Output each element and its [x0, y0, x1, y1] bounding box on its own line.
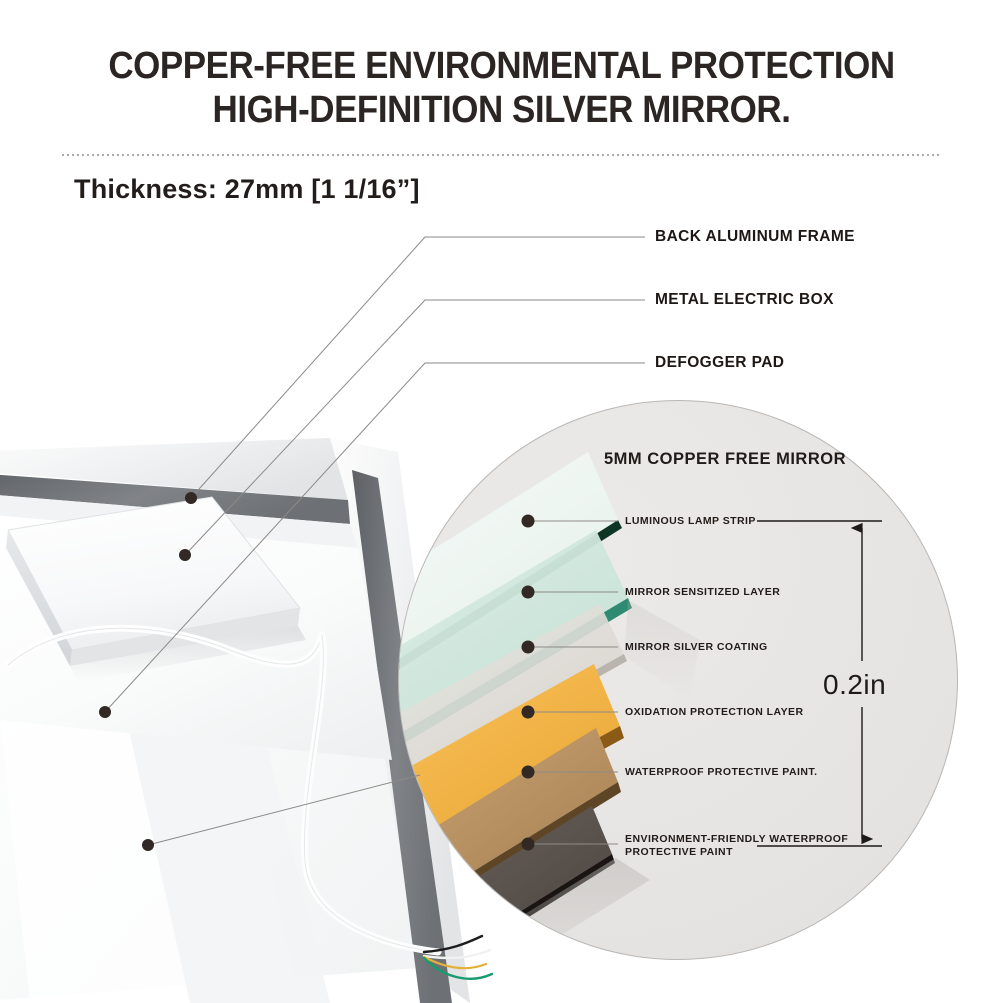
product-diagram-page: COPPER-FREE ENVIRONMENTAL PROTECTION HIG…	[0, 0, 1003, 1003]
thickness-dimension	[0, 0, 1003, 1003]
dimension-value: 0.2in	[823, 669, 886, 701]
